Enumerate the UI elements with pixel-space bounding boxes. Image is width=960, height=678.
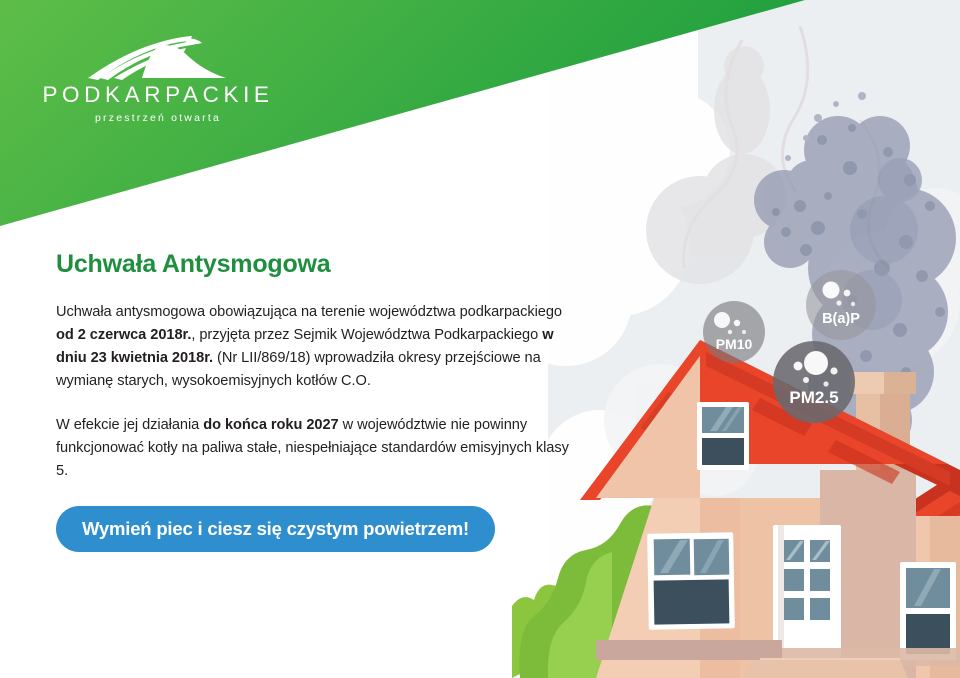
page-title: Uchwała Antysmogowa [56,250,576,279]
particle-dots-icon [806,270,876,340]
particle-dots-icon [703,301,765,363]
window-attic [697,402,749,470]
front-door [773,525,841,663]
logo-tagline: przestrzeń otwarta [38,112,278,124]
logo-wordmark: PODKARPACKIE [38,82,278,108]
pollutant-badge-pm25: PM2.5 [773,341,855,423]
pollutant-badge-bap: B(a)P [806,270,876,340]
pollutant-badge-pm25-label: PM2.5 [789,388,838,408]
pollutant-badge-pm10-label: PM10 [716,336,753,352]
paragraph-1: Uchwała antysmogowa obowiązująca na tere… [56,301,576,393]
replace-boiler-cta-button[interactable]: Wymień piec i ciesz się czystym powietrz… [56,506,495,552]
poster-root: PODKARPACKIE przestrzeń otwarta Uchwała … [0,0,960,678]
podkarpackie-mountain-road-mark [80,36,240,82]
pollutant-badge-bap-label: B(a)P [822,311,860,327]
content-block: Uchwała Antysmogowa Uchwała antysmogowa … [56,250,576,483]
podkarpackie-logo: PODKARPACKIE przestrzeń otwarta [38,36,278,131]
particle-dots-icon [773,341,855,423]
paragraph-2: W efekcie jej działania do końca roku 20… [56,414,576,483]
window-front-left [647,532,735,629]
window-right-wing [900,562,956,660]
foundation-band [596,640,782,660]
pollutant-badge-pm10: PM10 [703,301,765,363]
